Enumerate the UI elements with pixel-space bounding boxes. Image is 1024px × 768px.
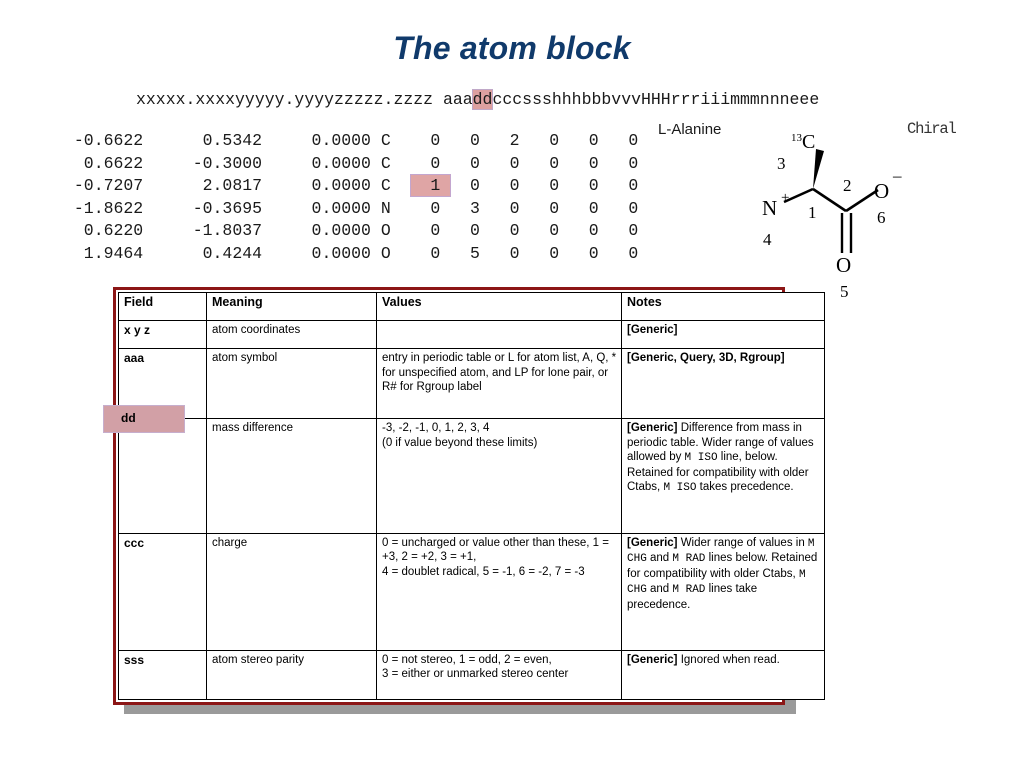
notes-tag: [Generic]: [627, 324, 678, 336]
format-dd-highlight: dd: [473, 90, 493, 109]
field-values-cell: 0 = not stereo, 1 = odd, 2 = even,3 = ei…: [377, 650, 622, 699]
bond-wedge-c1-c3: [813, 149, 824, 189]
field-name-cell: dd: [119, 419, 207, 534]
atom-coordinates: 0.6622 -0.3000 0.0000 C: [64, 154, 411, 173]
notes-tag: [Generic]: [627, 422, 678, 434]
atom-block-row: 1.9464 0.4244 0.0000 O 0 5 0 0 0 0: [64, 243, 638, 266]
atom-label-o5: O: [836, 253, 851, 277]
atom-flags: 0 0 0 0 0: [450, 176, 638, 195]
table-header-row: FieldMeaningValuesNotes: [119, 293, 825, 321]
field-name-cell: x y z: [119, 321, 207, 349]
field-notes-cell: [Generic] Difference from mass in period…: [622, 419, 825, 534]
atom-coordinates: -1.8622 -0.3695 0.0000 N: [64, 199, 411, 218]
column-header-values: Values: [377, 293, 622, 321]
atom-flags: 3 0 0 0 0: [450, 199, 638, 218]
atom-flags: 5 0 0 0 0: [450, 244, 638, 263]
molecule-structure-svg: 13 C 3 N + 4 1 2 O – 6 O 5: [650, 115, 1024, 300]
mono-token: M CHG: [627, 569, 806, 597]
atom-label-c3: C: [802, 131, 815, 153]
mono-token: M ISO: [685, 452, 718, 464]
atom-mass-difference: 0: [411, 244, 451, 263]
dd-field-highlight-label: dd: [121, 411, 136, 425]
atom-mass-difference: 0: [411, 221, 451, 240]
charge-label-n-plus: +: [781, 190, 789, 206]
atom-number-5: 5: [840, 282, 849, 300]
mono-token: M RAD: [672, 553, 705, 565]
format-prefix: xxxxx.xxxxyyyyy.yyyyzzzzz.zzzz aaa: [136, 90, 473, 109]
column-header-notes: Notes: [622, 293, 825, 321]
page-title: The atom block: [0, 30, 1024, 67]
notes-tag: [Generic, Query, 3D, Rgroup]: [627, 352, 785, 364]
atom-block-data: -0.6622 0.5342 0.0000 C 0 0 2 0 0 0 0.66…: [64, 130, 638, 265]
molecule-diagram-panel: L-Alanine Chiral 13 C 3 N + 4 1 2 O – 6 …: [650, 115, 1024, 300]
field-name-cell: ccc: [119, 533, 207, 650]
charge-label-o-minus: –: [892, 166, 902, 185]
field-meaning-cell: charge: [207, 533, 377, 650]
notes-tag: [Generic]: [627, 654, 678, 666]
atom-block-field-table: FieldMeaningValuesNotesx y zatom coordin…: [118, 292, 825, 700]
field-notes-cell: [Generic]: [622, 321, 825, 349]
field-name-cell: aaa: [119, 349, 207, 419]
notes-tag: [Generic]: [627, 537, 678, 549]
mono-token: M ISO: [663, 482, 696, 494]
field-values-cell: [377, 321, 622, 349]
atom-block-row: 0.6622 -0.3000 0.0000 C 0 0 0 0 0 0: [64, 153, 638, 176]
bond-c1-c2: [813, 189, 846, 211]
field-values-cell: 0 = uncharged or value other than these,…: [377, 533, 622, 650]
field-meaning-cell: mass difference: [207, 419, 377, 534]
table-row: aaaatom symbolentry in periodic table or…: [119, 349, 825, 419]
atom-coordinates: -0.6622 0.5342 0.0000 C: [64, 131, 411, 150]
atom-flags: 0 2 0 0 0: [450, 131, 638, 150]
atom-label-n: N: [762, 196, 777, 220]
table-row: x y zatom coordinates[Generic]: [119, 321, 825, 349]
atom-mass-difference: 0: [411, 154, 451, 173]
field-meaning-cell: atom symbol: [207, 349, 377, 419]
atom-flags: 0 0 0 0 0: [450, 154, 638, 173]
field-name-cell: sss: [119, 650, 207, 699]
atom-block-row: -1.8622 -0.3695 0.0000 N 0 3 0 0 0 0: [64, 198, 638, 221]
column-header-meaning: Meaning: [207, 293, 377, 321]
field-notes-cell: [Generic, Query, 3D, Rgroup]: [622, 349, 825, 419]
isotope-label-13: 13: [791, 132, 803, 144]
mono-token: M RAD: [672, 584, 705, 596]
atom-mass-difference: 1: [411, 175, 451, 196]
spec-table-frame: FieldMeaningValuesNotesx y zatom coordin…: [113, 287, 785, 705]
atom-flags: 0 0 0 0 0: [450, 221, 638, 240]
atom-coordinates: 1.9464 0.4244 0.0000 O: [64, 244, 411, 263]
format-suffix: cccssshhhbbbvvvHHHrrriiimmmnnneee: [492, 90, 819, 109]
table-row: ccccharge0 = uncharged or value other th…: [119, 533, 825, 650]
atom-number-3: 3: [777, 154, 786, 173]
column-header-field: Field: [119, 293, 207, 321]
field-values-cell: -3, -2, -1, 0, 1, 2, 3, 4(0 if value bey…: [377, 419, 622, 534]
field-notes-cell: [Generic] Ignored when read.: [622, 650, 825, 699]
atom-block-row: -0.7207 2.0817 0.0000 C 1 0 0 0 0 0: [64, 175, 638, 198]
atom-number-6: 6: [877, 208, 886, 227]
field-meaning-cell: atom stereo parity: [207, 650, 377, 699]
atom-block-row: -0.6622 0.5342 0.0000 C 0 0 2 0 0 0: [64, 130, 638, 153]
atom-label-o6: O: [874, 179, 889, 203]
atom-number-1: 1: [808, 203, 817, 222]
field-meaning-cell: atom coordinates: [207, 321, 377, 349]
atom-coordinates: -0.7207 2.0817 0.0000 C: [64, 176, 411, 195]
atom-mass-difference: 0: [411, 199, 451, 218]
field-values-cell: entry in periodic table or L for atom li…: [377, 349, 622, 419]
field-notes-cell: [Generic] Wider range of values in M CHG…: [622, 533, 825, 650]
atom-number-2: 2: [843, 176, 852, 195]
format-specifier-line: xxxxx.xxxxyyyyy.yyyyzzzzz.zzzz aaaddcccs…: [136, 90, 819, 109]
atom-mass-difference: 0: [411, 131, 451, 150]
atom-block-row: 0.6220 -1.8037 0.0000 O 0 0 0 0 0 0: [64, 220, 638, 243]
table-row: ddmass difference-3, -2, -1, 0, 1, 2, 3,…: [119, 419, 825, 534]
atom-coordinates: 0.6220 -1.8037 0.0000 O: [64, 221, 411, 240]
table-row: sssatom stereo parity0 = not stereo, 1 =…: [119, 650, 825, 699]
atom-number-4: 4: [763, 230, 772, 249]
